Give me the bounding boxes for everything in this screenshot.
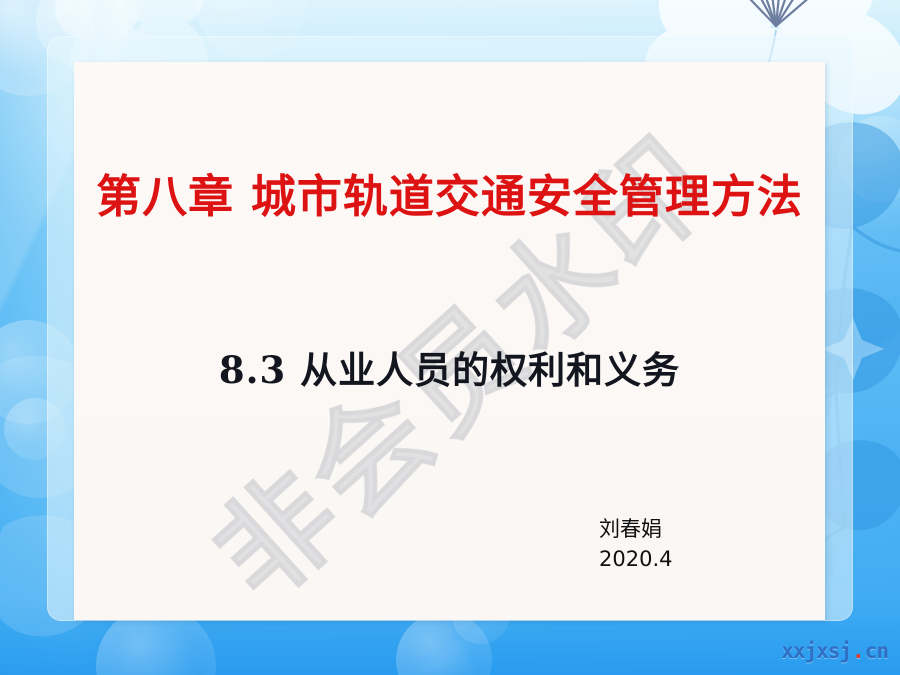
site-logo-suffix: cn <box>865 639 888 663</box>
site-logo-dot: . <box>851 639 865 663</box>
byline: 刘春娟 2020.4 <box>599 514 672 575</box>
presentation-date: 2020.4 <box>599 544 672 574</box>
author-name: 刘春娟 <box>599 514 672 544</box>
slide-canvas: 非会员水印 第八章 城市轨道交通安全管理方法 8.3 从业人员的权利和义务 刘春… <box>0 0 900 675</box>
slide-subtitle: 8.3 从业人员的权利和义务 <box>74 340 825 394</box>
slide-content: 第八章 城市轨道交通安全管理方法 8.3 从业人员的权利和义务 刘春娟 2020… <box>74 62 825 620</box>
site-logo-prefix: xxjxsj <box>781 639 851 663</box>
site-logo[interactable]: xxjxsj . cn <box>781 639 888 663</box>
slide-title: 第八章 城市轨道交通安全管理方法 <box>74 160 825 225</box>
